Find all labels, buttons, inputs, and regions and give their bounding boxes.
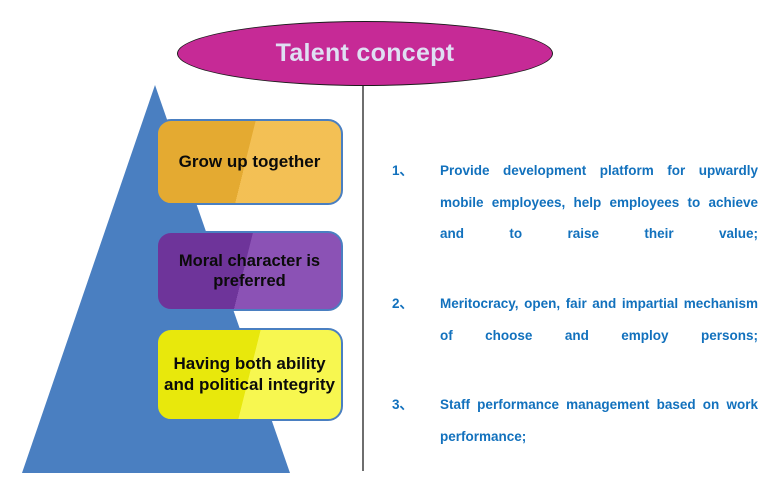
pyramid-box-moral-character: Moral character is preferred xyxy=(156,231,343,311)
list-item: 2、 Meritocracy, open, fair and impartial… xyxy=(392,288,758,383)
ellipse-title-label: Talent concept xyxy=(177,21,553,86)
list-item-text: Meritocracy, open, fair and impartial me… xyxy=(440,288,758,383)
list-item-marker: 2、 xyxy=(392,288,440,320)
pyramid-box-ability-integrity: Having both ability and political integr… xyxy=(156,328,343,421)
pyramid-box-label: Moral character is preferred xyxy=(158,251,341,291)
list-item-marker: 3、 xyxy=(392,389,440,421)
pyramid-box-label: Grow up together xyxy=(173,152,327,173)
list-item-marker: 1、 xyxy=(392,155,440,187)
vertical-divider-line xyxy=(362,85,364,471)
list-item-text: Provide development platform for upwardl… xyxy=(440,155,758,282)
pyramid-box-label: Having both ability and political integr… xyxy=(158,354,341,395)
list-item: 1、 Provide development platform for upwa… xyxy=(392,155,758,282)
talent-concept-ellipse: Talent concept xyxy=(177,21,553,86)
principles-list: 1、 Provide development platform for upwa… xyxy=(392,155,758,483)
diagram-canvas: Talent concept Grow up together Moral ch… xyxy=(0,0,770,483)
list-item-text: Staff performance management based on wo… xyxy=(440,389,758,483)
pyramid-box-grow-up-together: Grow up together xyxy=(156,119,343,205)
list-item: 3、 Staff performance management based on… xyxy=(392,389,758,483)
